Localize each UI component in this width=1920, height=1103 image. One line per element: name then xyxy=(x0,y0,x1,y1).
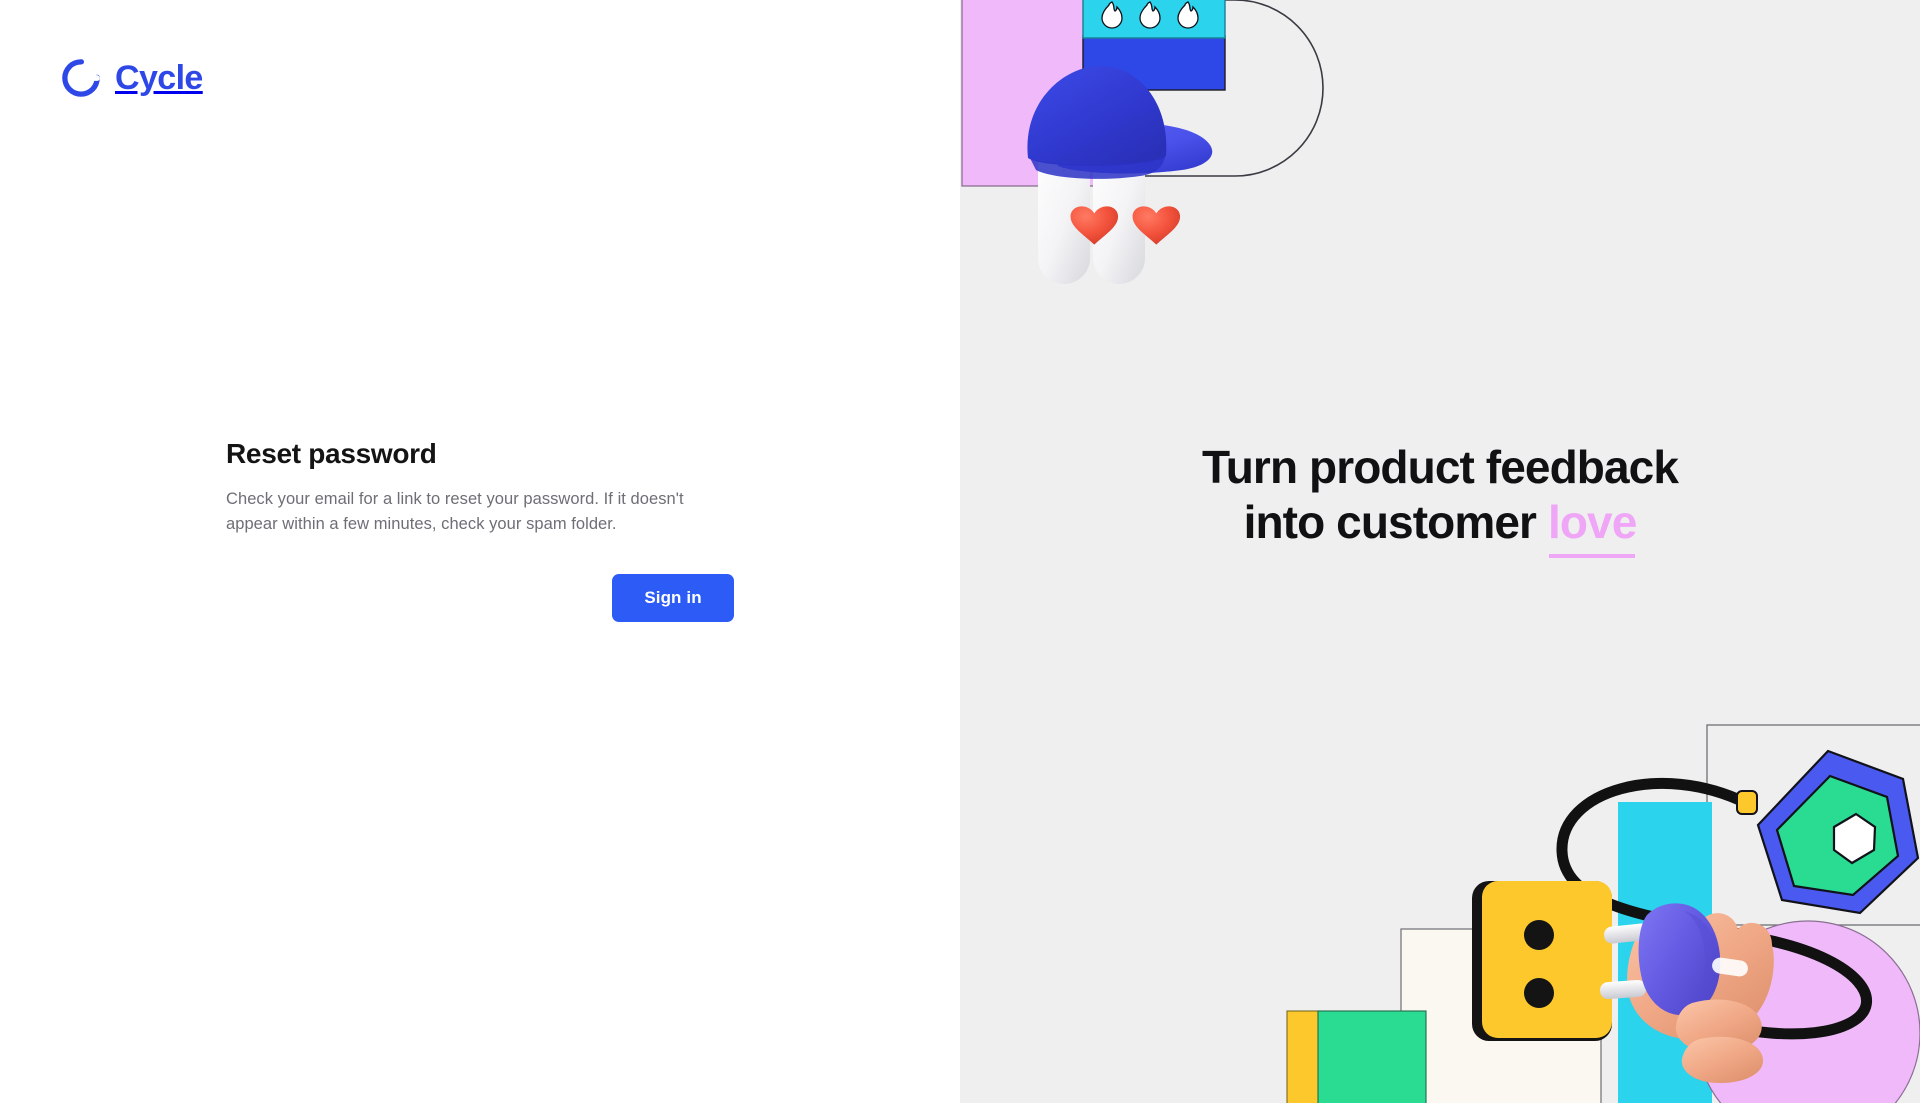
top-illustration xyxy=(960,0,1520,338)
auth-page: Cycle Reset password Check your email fo… xyxy=(0,0,1920,1103)
sign-in-button[interactable]: Sign in xyxy=(612,574,734,622)
left-pane: Cycle Reset password Check your email fo… xyxy=(0,0,960,1103)
hero-headline-line1: Turn product feedback xyxy=(1202,441,1678,493)
socket-hole xyxy=(1524,920,1554,950)
cycle-ring-logo-icon xyxy=(60,57,102,99)
page-title: Reset password xyxy=(226,437,734,471)
card-actions: Sign in xyxy=(226,574,734,622)
hero-headline: Turn product feedback into customer love xyxy=(960,440,1920,549)
reset-password-card: Reset password Check your email for a li… xyxy=(226,437,734,622)
right-pane-marketing: Turn product feedback into customer love xyxy=(960,0,1920,1103)
brand-name: Cycle xyxy=(115,61,203,95)
socket-hole xyxy=(1524,978,1554,1008)
hero-headline-line2: into customer xyxy=(1244,496,1536,548)
hero-headline-accent: love xyxy=(1548,495,1636,550)
bottom-illustration xyxy=(1260,703,1920,1103)
hexagon-icon xyxy=(1758,751,1918,913)
reset-password-description: Check your email for a link to reset you… xyxy=(226,487,696,538)
brand-logo-link[interactable]: Cycle xyxy=(60,57,203,99)
fire-icon-group xyxy=(1102,2,1198,28)
